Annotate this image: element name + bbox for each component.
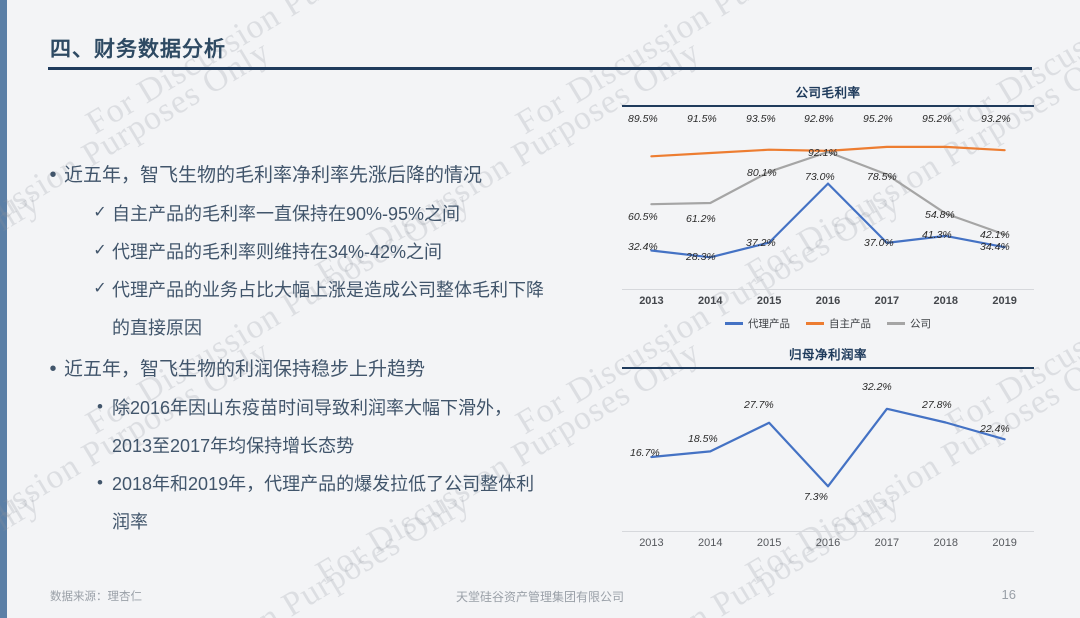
legend-item-公司[interactable]: 公司 — [887, 316, 931, 331]
legend-label: 代理产品 — [748, 316, 790, 331]
page-title: 四、财务数据分析 — [50, 33, 226, 63]
data-label-company-2018: 54.8% — [925, 209, 955, 221]
bullet-text: 润率 — [112, 506, 148, 538]
data-label-self-2013: 89.5% — [628, 113, 658, 125]
footer: 数据来源：理杏仁 天堂硅谷资产管理集团有限公司 16 — [0, 576, 1080, 618]
chart-gross-margin-svg — [622, 109, 1034, 289]
chart-gross-margin: 公司毛利率 89.5% 91.5% 93.5% 92.8% 95.2% 95.2… — [622, 82, 1034, 331]
bullet-item: 2013至2017年均保持增长态势 — [88, 430, 632, 462]
data-label-agent-2016: 73.0% — [805, 171, 835, 183]
data-label-agent-2019: 34.4% — [980, 241, 1010, 253]
chart-net-profit-axis — [622, 531, 1034, 532]
legend-item-自主产品[interactable]: 自主产品 — [806, 316, 871, 331]
x-tick-2019: 2019 — [975, 295, 1034, 307]
legend-label: 公司 — [910, 316, 931, 331]
data-label-net-2014: 18.5% — [688, 433, 718, 445]
data-label-agent-2018: 41.3% — [922, 229, 952, 241]
x-tick-2014: 2014 — [681, 295, 740, 307]
bullet-text: 代理产品的毛利率则维持在34%-42%之间 — [112, 236, 442, 268]
bullet-dot-icon: • — [88, 392, 112, 422]
watermark-text: For Discussion Purposes Only — [80, 0, 477, 143]
bullet-text: 近五年，智飞生物的毛利率净利率先涨后降的情况 — [64, 160, 482, 191]
bullet-item: ✓自主产品的毛利率一直保持在90%-95%之间 — [88, 198, 632, 230]
data-label-net-2018: 27.8% — [922, 399, 952, 411]
x-tick-2015: 2015 — [740, 295, 799, 307]
title-divider — [48, 67, 1032, 70]
bullet-item: ✓代理产品的业务占比大幅上涨是造成公司整体毛利下降 — [88, 274, 632, 306]
x-tick-2017: 2017 — [857, 537, 916, 549]
data-label-company-2014: 61.2% — [686, 213, 716, 225]
bullet-text: 近五年，智飞生物的利润保持稳步上升趋势 — [64, 354, 425, 385]
x-tick-2018: 2018 — [916, 537, 975, 549]
bullet-item: •近五年，智飞生物的利润保持稳步上升趋势 — [42, 354, 632, 385]
chart-net-profit-svg — [622, 371, 1034, 531]
bullet-dot-icon: • — [42, 354, 64, 384]
bullet-text: 2013至2017年均保持增长态势 — [112, 430, 354, 462]
data-label-net-2019: 22.4% — [980, 423, 1010, 435]
chart-net-profit-margin: 归母净利润率 16.7% 18.5% 27.7% 7.3% 32.2% 27.8… — [622, 344, 1034, 549]
chart-net-profit-title: 归母净利润率 — [622, 344, 1034, 363]
legend-swatch-icon — [887, 322, 905, 325]
check-icon: ✓ — [88, 274, 112, 304]
data-label-company-2019: 42.1% — [980, 229, 1010, 241]
watermark-text: For Discussion Purposes Only — [0, 183, 47, 443]
watermark-text: For Discussion Purposes Only — [0, 0, 47, 143]
bullet-list: •近五年，智飞生物的毛利率净利率先涨后降的情况✓自主产品的毛利率一直保持在90%… — [42, 160, 632, 544]
slide: For Discussion Purposes OnlyFor Discussi… — [0, 0, 1080, 618]
chart-gross-margin-title: 公司毛利率 — [622, 82, 1034, 101]
data-label-agent-2013: 32.4% — [628, 241, 658, 253]
legend-swatch-icon — [806, 322, 824, 325]
data-label-self-2017: 95.2% — [863, 113, 893, 125]
x-tick-2016: 2016 — [799, 295, 858, 307]
data-label-company-2017: 78.5% — [867, 171, 897, 183]
data-label-self-2014: 91.5% — [687, 113, 717, 125]
data-label-self-2019: 93.2% — [981, 113, 1011, 125]
data-label-company-2015: 80.1% — [747, 167, 777, 179]
bullet-text: 除2016年因山东疫苗时间导致利润率大幅下滑外， — [112, 392, 512, 424]
bullet-text: 代理产品的业务占比大幅上涨是造成公司整体毛利下降 — [112, 274, 544, 306]
footer-page-number: 16 — [1002, 587, 1016, 602]
legend-swatch-icon — [725, 322, 743, 325]
bullet-item: •2018年和2019年，代理产品的爆发拉低了公司整体利 — [88, 468, 632, 500]
data-label-agent-2015: 37.2% — [746, 237, 776, 249]
data-label-net-2016: 7.3% — [804, 491, 828, 503]
data-label-agent-2017: 37.0% — [864, 237, 894, 249]
x-tick-2016: 2016 — [799, 537, 858, 549]
data-label-self-2015: 93.5% — [746, 113, 776, 125]
x-tick-2014: 2014 — [681, 537, 740, 549]
chart-gross-margin-legend: 代理产品自主产品公司 — [622, 316, 1034, 331]
chart-net-profit-divider — [622, 367, 1034, 369]
bullet-dot-icon: • — [88, 468, 112, 498]
data-label-self-2016: 92.8% — [804, 113, 834, 125]
chart-net-profit-x-labels: 2013201420152016201720182019 — [622, 537, 1034, 549]
legend-label: 自主产品 — [829, 316, 871, 331]
left-accent-bar — [0, 0, 7, 618]
bullet-item: 润率 — [88, 506, 632, 538]
bullet-text: 2018年和2019年，代理产品的爆发拉低了公司整体利 — [112, 468, 534, 500]
data-label-self-2018: 95.2% — [922, 113, 952, 125]
x-tick-2013: 2013 — [622, 295, 681, 307]
data-label-net-2017: 32.2% — [862, 381, 892, 393]
data-label-net-2015: 27.7% — [744, 399, 774, 411]
chart-net-profit-plot: 16.7% 18.5% 27.7% 7.3% 32.2% 27.8% 22.4% — [622, 371, 1034, 531]
bullet-text: 的直接原因 — [112, 312, 202, 344]
data-label-net-2013: 16.7% — [630, 447, 660, 459]
x-tick-2017: 2017 — [857, 295, 916, 307]
x-tick-2015: 2015 — [740, 537, 799, 549]
bullet-item: 的直接原因 — [88, 312, 632, 344]
chart-gross-margin-axis — [622, 289, 1034, 290]
data-label-company-2016: 92.1% — [808, 147, 838, 159]
x-tick-2013: 2013 — [622, 537, 681, 549]
x-tick-2018: 2018 — [916, 295, 975, 307]
bullet-item: •除2016年因山东疫苗时间导致利润率大幅下滑外， — [88, 392, 632, 424]
legend-item-代理产品[interactable]: 代理产品 — [725, 316, 790, 331]
chart-gross-margin-x-labels: 2013201420152016201720182019 — [622, 295, 1034, 307]
chart-gross-margin-plot: 89.5% 91.5% 93.5% 92.8% 95.2% 95.2% 93.2… — [622, 109, 1034, 289]
bullet-item: •近五年，智飞生物的毛利率净利率先涨后降的情况 — [42, 160, 632, 191]
bullet-text: 自主产品的毛利率一直保持在90%-95%之间 — [112, 198, 460, 230]
footer-company: 天堂硅谷资产管理集团有限公司 — [0, 588, 1080, 605]
data-label-company-2013: 60.5% — [628, 211, 658, 223]
bullet-dot-icon: • — [42, 160, 64, 190]
bullet-item: ✓代理产品的毛利率则维持在34%-42%之间 — [88, 236, 632, 268]
data-label-agent-2014: 28.3% — [686, 251, 716, 263]
series-line-net-profit — [651, 409, 1004, 487]
x-tick-2019: 2019 — [975, 537, 1034, 549]
check-icon: ✓ — [88, 236, 112, 266]
check-icon: ✓ — [88, 198, 112, 228]
chart-gross-margin-divider — [622, 105, 1034, 107]
